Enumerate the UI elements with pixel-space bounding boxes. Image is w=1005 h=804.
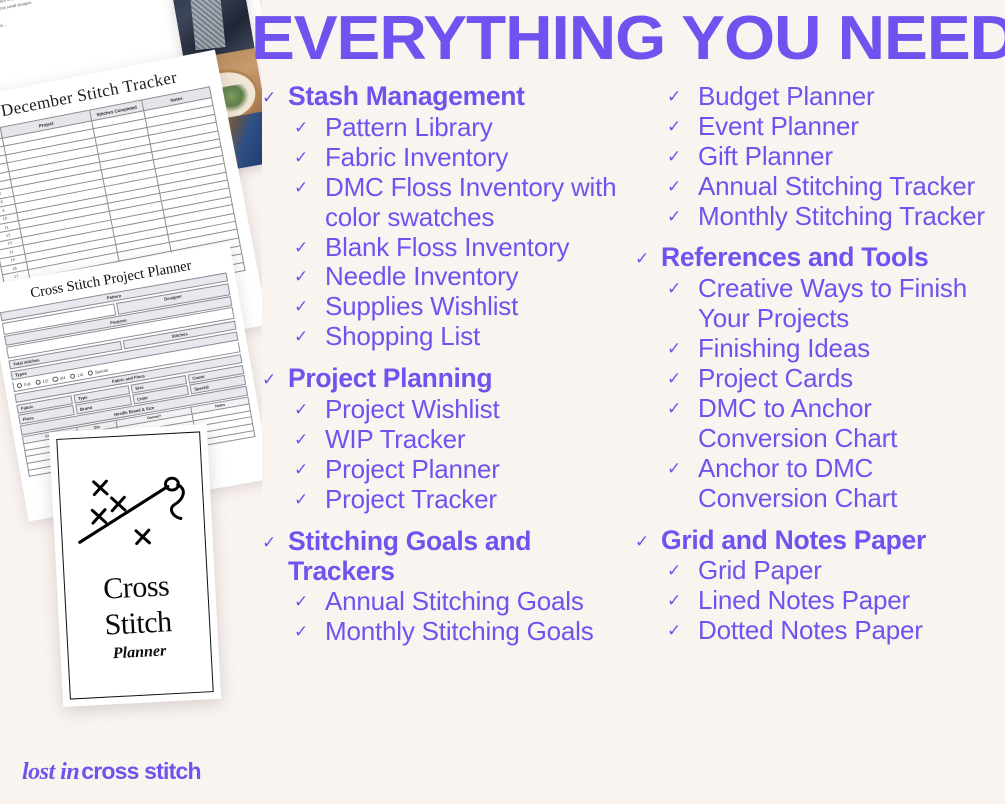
checkmark-icon: ✓ (667, 454, 698, 478)
feature-group: ✓Grid and Notes Paper✓Grid Paper✓Lined N… (635, 526, 1004, 647)
checkmark-icon: ✓ (294, 113, 325, 137)
feature-list-item: ✓Lined Notes Paper (635, 586, 1004, 616)
feature-list-item: ✓Monthly Stitching Tracker (635, 202, 1004, 232)
type-option: 1/4 (70, 372, 84, 380)
feature-list-item: ✓Dotted Notes Paper (635, 616, 1004, 646)
feature-item-label: Event Planner (698, 112, 859, 142)
feature-item-label: Pattern Library (325, 113, 493, 143)
checkmark-icon: ✓ (667, 586, 698, 610)
page-title: EVERYTHING YOU NEED (244, 8, 1005, 70)
feature-list-item: ✓Budget Planner (635, 82, 1004, 112)
cover-line-3: Planner (68, 641, 211, 666)
feature-group-header: ✓Stash Management (262, 82, 631, 112)
feature-group-header: ✓Grid and Notes Paper (635, 526, 1004, 556)
feature-item-label: Project Wishlist (325, 395, 500, 425)
checkmark-icon: ✓ (294, 485, 325, 509)
feature-list-item: ✓Anchor to DMC Conversion Chart (635, 454, 1004, 514)
feature-item-label: Shopping List (325, 322, 480, 352)
feature-group: ✓References and Tools✓Creative Ways to F… (635, 243, 1004, 513)
cover-line-2: Stitch (66, 603, 210, 644)
checkmark-icon: ✓ (294, 617, 325, 641)
feature-list-item: ✓Annual Stitching Tracker (635, 172, 1004, 202)
feature-item-label: Finishing Ideas (698, 334, 870, 364)
feature-list-item: ✓Pattern Library (262, 113, 631, 143)
feature-item-label: Project Tracker (325, 485, 497, 515)
checkmark-icon: ✓ (294, 292, 325, 316)
feature-item-label: Budget Planner (698, 82, 874, 112)
checkmark-icon: ✓ (667, 82, 698, 106)
feature-list-item: ✓Event Planner (635, 112, 1004, 142)
feature-item-label: Grid Paper (698, 556, 822, 586)
checkmark-icon: ✓ (294, 455, 325, 479)
checkmark-icon: ✓ (262, 364, 288, 389)
checkmark-icon: ✓ (294, 143, 325, 167)
feature-group-header: ✓Project Planning (262, 364, 631, 394)
feature-list-item: ✓Grid Paper (635, 556, 1004, 586)
feature-list-item: ✓DMC Floss Inventory with color swatches (262, 173, 631, 233)
feature-list-item: ✓Blank Floss Inventory (262, 233, 631, 263)
checkmark-icon: ✓ (667, 142, 698, 166)
logo-script-text: lost in (22, 759, 79, 785)
checkmark-icon: ✓ (667, 364, 698, 388)
feature-group-label: Stitching Goals and Trackers (288, 527, 631, 587)
cover-border: Cross Stitch Planner (56, 431, 213, 699)
poster-root: … a decorative pillow cover. Quilts: Sti… (0, 0, 1005, 804)
feature-group: ✓Stitching Goals and Trackers✓Annual Sti… (262, 527, 631, 648)
feature-group-label: References and Tools (661, 243, 928, 273)
feature-list-item: ✓Project Wishlist (262, 395, 631, 425)
checkmark-icon: ✓ (635, 526, 661, 551)
radio-icon (70, 373, 76, 379)
checkmark-icon: ✓ (294, 262, 325, 286)
feature-column-left: ✓Stash Management✓Pattern Library✓Fabric… (258, 82, 631, 647)
feature-item-label: Needle Inventory (325, 262, 518, 292)
needle-and-stitches-icon (59, 463, 205, 558)
feature-list-item: ✓Needle Inventory (262, 262, 631, 292)
checkmark-icon: ✓ (294, 322, 325, 346)
feature-list-item: ✓DMC to Anchor Conversion Chart (635, 394, 1004, 454)
checkmark-icon: ✓ (667, 172, 698, 196)
product-mockup-collage: … a decorative pillow cover. Quilts: Sti… (0, 0, 262, 804)
feature-list-item: ✓WIP Tracker (262, 425, 631, 455)
feature-item-label: Blank Floss Inventory (325, 233, 569, 263)
feature-list-item: ✓Project Cards (635, 364, 1004, 394)
type-option: 1/2 (35, 378, 49, 386)
feature-group: ✓Budget Planner✓Event Planner✓Gift Plann… (635, 82, 1004, 231)
feature-list-item: ✓Annual Stitching Goals (262, 587, 631, 617)
cover-line-1: Cross (64, 567, 208, 608)
checkmark-icon: ✓ (667, 334, 698, 358)
radio-icon (17, 383, 23, 389)
feature-list-item: ✓Creative Ways to Finish Your Projects (635, 274, 1004, 334)
feature-columns: ✓Stash Management✓Pattern Library✓Fabric… (258, 82, 1005, 647)
logo-bold-text: cross stitch (81, 758, 201, 784)
checkmark-icon: ✓ (294, 173, 325, 197)
checkmark-icon: ✓ (294, 425, 325, 449)
feature-column-right: ✓Budget Planner✓Event Planner✓Gift Plann… (631, 82, 1004, 647)
feature-item-label: Annual Stitching Goals (325, 587, 584, 617)
checkmark-icon: ✓ (294, 587, 325, 611)
checkmark-icon: ✓ (667, 394, 698, 418)
radio-icon (52, 376, 58, 382)
feature-item-label: Anchor to DMC Conversion Chart (698, 454, 1004, 514)
brand-logo: lost incross stitch (22, 758, 201, 786)
feature-group-header: ✓Stitching Goals and Trackers (262, 527, 631, 587)
feature-list-item: ✓Gift Planner (635, 142, 1004, 172)
checkmark-icon: ✓ (667, 274, 698, 298)
feature-group-header: ✓References and Tools (635, 243, 1004, 273)
mockup-planner-cover: Cross Stitch Planner (49, 424, 221, 707)
feature-list-item: ✓Monthly Stitching Goals (262, 617, 631, 647)
feature-list-item: ✓Finishing Ideas (635, 334, 1004, 364)
feature-list-item: ✓Project Tracker (262, 485, 631, 515)
feature-group-label: Project Planning (288, 364, 492, 394)
feature-item-label: Creative Ways to Finish Your Projects (698, 274, 1004, 334)
feature-item-label: Monthly Stitching Tracker (698, 202, 985, 232)
feature-item-label: Fabric Inventory (325, 143, 508, 173)
checkmark-icon: ✓ (262, 527, 288, 552)
feature-item-label: Annual Stitching Tracker (698, 172, 975, 202)
checkmark-icon: ✓ (667, 112, 698, 136)
feature-list-item: ✓Shopping List (262, 322, 631, 352)
feature-item-label: WIP Tracker (325, 425, 465, 455)
checkmark-icon: ✓ (667, 556, 698, 580)
type-option: Special (87, 367, 108, 376)
feature-group-label: Grid and Notes Paper (661, 526, 926, 556)
feature-item-label: Supplies Wishlist (325, 292, 518, 322)
radio-icon (35, 379, 41, 385)
feature-item-label: DMC to Anchor Conversion Chart (698, 394, 1004, 454)
type-option: 3/4 (52, 375, 66, 383)
feature-item-label: Gift Planner (698, 142, 833, 172)
feature-group-label: Stash Management (288, 82, 525, 112)
feature-item-label: Project Cards (698, 364, 853, 394)
feature-item-label: Dotted Notes Paper (698, 616, 923, 646)
checkmark-icon: ✓ (667, 616, 698, 640)
content-area: EVERYTHING YOU NEED ✓Stash Management✓Pa… (258, 0, 1005, 804)
feature-list-item: ✓Project Planner (262, 455, 631, 485)
checkmark-icon: ✓ (635, 243, 661, 268)
checkmark-icon: ✓ (262, 82, 288, 107)
radio-icon (87, 370, 93, 376)
feature-item-label: Monthly Stitching Goals (325, 617, 594, 647)
checkmark-icon: ✓ (294, 233, 325, 257)
feature-list-item: ✓Supplies Wishlist (262, 292, 631, 322)
checkmark-icon: ✓ (294, 395, 325, 419)
feature-group: ✓Project Planning✓Project Wishlist✓WIP T… (262, 364, 631, 515)
feature-item-label: Project Planner (325, 455, 500, 485)
type-option: Full (16, 381, 30, 389)
feature-item-label: Lined Notes Paper (698, 586, 910, 616)
checkmark-icon: ✓ (667, 202, 698, 226)
feature-item-label: DMC Floss Inventory with color swatches (325, 173, 631, 233)
feature-list-item: ✓Fabric Inventory (262, 143, 631, 173)
feature-group: ✓Stash Management✓Pattern Library✓Fabric… (262, 82, 631, 352)
